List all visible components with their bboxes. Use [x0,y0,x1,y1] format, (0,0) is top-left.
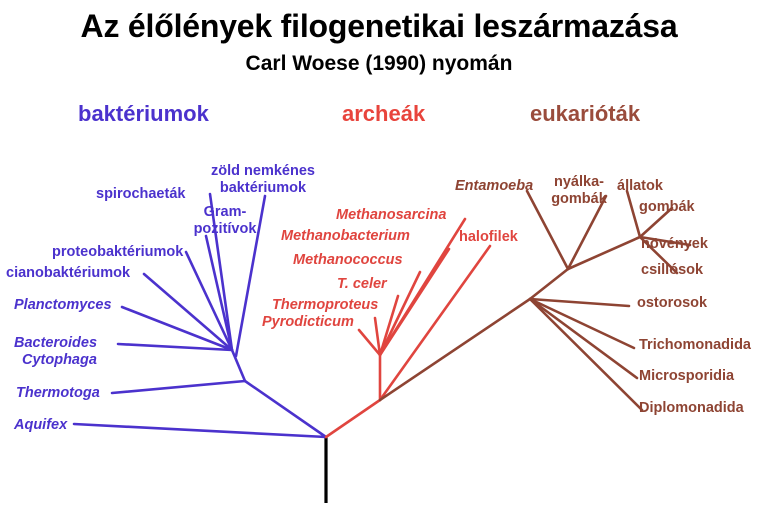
label-cytophaga: Cytophaga [22,352,97,369]
label-proteobakteriumok: proteobaktériumok [52,244,183,261]
domain-heading-archaea: archeák [342,101,425,127]
branch-diplomonadida [530,299,642,410]
branch-archaea-stem [326,400,380,437]
label-zold-nemkenes-baktériumok: baktériumok [205,180,321,197]
phylogenetic-tree-figure: Az élőlények filogenetikai leszármazása … [0,0,758,512]
domain-heading-bacteria: baktériumok [78,101,209,127]
label-thermoproteus: Thermoproteus [272,297,378,314]
label-zold-nemkenes: zöld nemkénes [205,163,321,180]
label-halofilek: halofilek [459,229,518,246]
label-gombak: gombák [639,199,695,216]
domain-heading-eukarya: eukarióták [530,101,640,127]
branch-thermotoga [112,381,245,393]
label-cianobakteriumok: cianobaktériumok [6,265,130,282]
branch-cianobakteriumok [144,274,232,350]
label-planctomyces: Planctomyces [14,297,112,314]
label-thermotoga: Thermotoga [16,385,100,402]
label-trichomonadida: Trichomonadida [639,337,751,354]
label-pyrodicticum: Pyrodicticum [262,314,354,331]
label-methanobacterium: Methanobacterium [281,228,410,245]
page-subtitle: Carl Woese (1990) nyomán [0,52,758,76]
page-title: Az élőlények filogenetikai leszármazása [0,8,758,45]
branch-eukarya-crown-link [568,237,640,269]
label-novenyek: növények [641,236,708,253]
branch-microsporidia [530,299,637,378]
label-nyalka: nyálka- [548,174,610,191]
branch-eukarya-stem [380,299,530,400]
label-ostorosok: ostorosok [637,295,707,312]
label-gram: Gram- [186,204,264,221]
label-bacteroides: Bacteroides [14,335,97,352]
label-gram-pozitivok: pozitívok [186,221,264,238]
branch-bacteroides-cytophaga [118,344,232,350]
label-methanococcus: Methanococcus [293,252,403,269]
label-spirochaetak: spirochaeták [96,186,185,203]
label-tceler: T. celer [337,276,387,293]
label-allatok: állatok [617,178,663,195]
label-csillosok: csillósok [641,262,703,279]
branch-bacteria-stem [245,381,326,437]
label-microsporidia: Microsporidia [639,368,734,385]
branch-bacteria-node-link [232,350,245,381]
label-nyalka-gombak: gombák [548,191,610,208]
branch-aquifex [74,424,326,437]
label-entamoeba: Entamoeba [455,178,533,195]
branch-eukarya-node-link [530,269,568,299]
label-aquifex: Aquifex [14,417,67,434]
label-methanosarcina: Methanosarcina [336,207,446,224]
label-diplomonadida: Diplomonadida [639,400,744,417]
